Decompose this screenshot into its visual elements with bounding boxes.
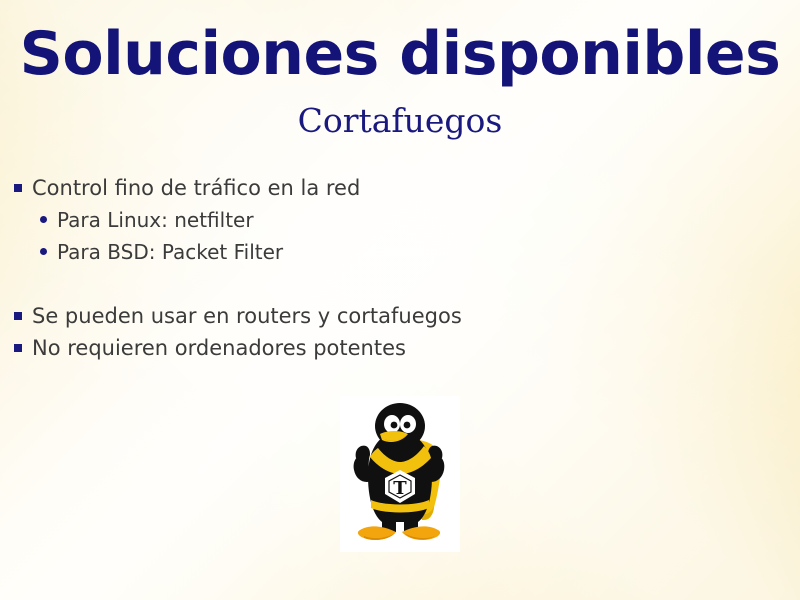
bullet-item: Para BSD: Packet Filter (14, 236, 774, 268)
bullet-item: Control fino de tráfico en la red (14, 172, 774, 204)
bullet-spacer (14, 268, 774, 300)
penguin-image: T (340, 396, 460, 552)
disc-bullet-icon (40, 216, 47, 223)
slide-title: Soluciones disponibles (0, 22, 800, 86)
square-bullet-icon (14, 312, 22, 320)
square-bullet-icon (14, 344, 22, 352)
bullet-label: Se pueden usar en routers y cortafuegos (32, 300, 462, 332)
svg-text:T: T (393, 478, 407, 499)
bullet-item: Se pueden usar en routers y cortafuegos (14, 300, 774, 332)
disc-bullet-icon (40, 248, 47, 255)
bullet-item: No requieren ordenadores potentes (14, 332, 774, 364)
bullet-label: Control fino de tráfico en la red (32, 172, 360, 204)
bullet-label: Para Linux: netfilter (57, 204, 254, 236)
bullet-label: Para BSD: Packet Filter (57, 236, 283, 268)
bullet-label: No requieren ordenadores potentes (32, 332, 406, 364)
bullet-item: Para Linux: netfilter (14, 204, 774, 236)
head-shape (375, 403, 425, 449)
square-bullet-icon (14, 184, 22, 192)
bullet-list: Control fino de tráfico en la red Para L… (14, 172, 774, 364)
slide-subtitle: Cortafuegos (0, 102, 800, 140)
presentation-slide: Soluciones disponibles Cortafuegos Contr… (0, 0, 800, 600)
slide-content: Soluciones disponibles Cortafuegos Contr… (0, 0, 800, 600)
